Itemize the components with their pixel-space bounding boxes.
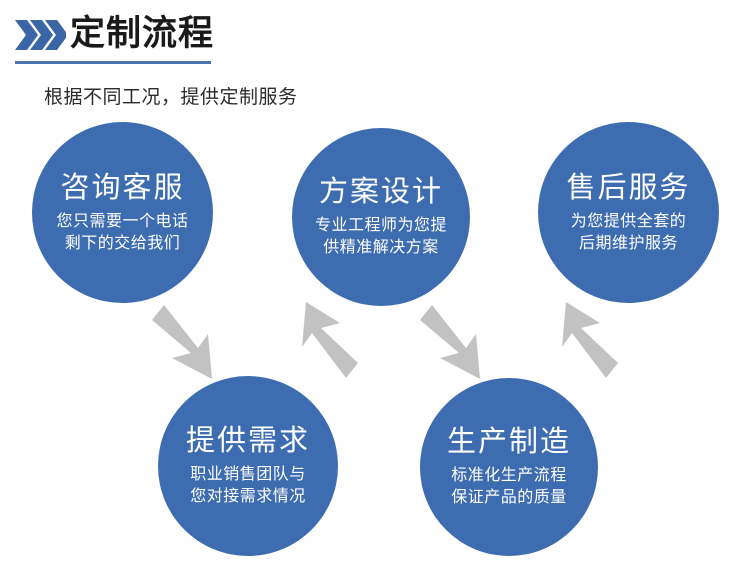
step-circle-requirements[interactable]: 提供需求 职业销售团队与 您对接需求情况 bbox=[158, 376, 338, 556]
step-desc-line: 后期维护服务 bbox=[579, 233, 678, 255]
arrow-down-right-icon bbox=[418, 303, 494, 381]
step-desc-line: 标准化生产流程 bbox=[451, 465, 567, 487]
step-title: 方案设计 bbox=[319, 175, 443, 209]
step-circle-design[interactable]: 方案设计 专业工程师为您提 供精准解决方案 bbox=[292, 128, 470, 306]
step-desc-line: 您只需要一个电话 bbox=[56, 211, 188, 233]
step-desc-line: 保证产品的质量 bbox=[451, 487, 567, 509]
page-header: 定制流程 根据不同工况，提供定制服务 bbox=[0, 0, 750, 70]
step-circle-manufacturing[interactable]: 生产制造 标准化生产流程 保证产品的质量 bbox=[420, 378, 598, 556]
step-desc-line: 专业工程师为您提 bbox=[315, 215, 447, 237]
step-title: 生产制造 bbox=[447, 425, 571, 459]
slide-canvas: 定制流程 根据不同工况，提供定制服务 咨询客服 您只需要一个电话 剩下的交给我们… bbox=[0, 0, 750, 576]
step-desc-line: 供精准解决方案 bbox=[323, 237, 439, 259]
step-title: 提供需求 bbox=[186, 424, 310, 458]
step-title: 售后服务 bbox=[566, 171, 690, 205]
step-desc-line: 为您提供全套的 bbox=[571, 211, 687, 233]
arrow-up-right-icon bbox=[288, 300, 366, 382]
triple-chevron-right-icon bbox=[14, 18, 66, 52]
page-subtitle: 根据不同工况，提供定制服务 bbox=[44, 82, 298, 109]
title-underline bbox=[15, 61, 211, 64]
step-circle-aftersales[interactable]: 售后服务 为您提供全套的 后期维护服务 bbox=[538, 122, 719, 303]
arrow-down-right-icon bbox=[150, 303, 226, 381]
step-desc-line: 您对接需求情况 bbox=[190, 486, 306, 508]
step-desc-line: 职业销售团队与 bbox=[190, 464, 306, 486]
page-title: 定制流程 bbox=[70, 11, 214, 57]
step-circle-consult[interactable]: 咨询客服 您只需要一个电话 剩下的交给我们 bbox=[32, 122, 213, 303]
step-desc-line: 剩下的交给我们 bbox=[65, 233, 181, 255]
arrow-up-right-icon bbox=[548, 300, 626, 382]
step-title: 咨询客服 bbox=[60, 171, 184, 205]
